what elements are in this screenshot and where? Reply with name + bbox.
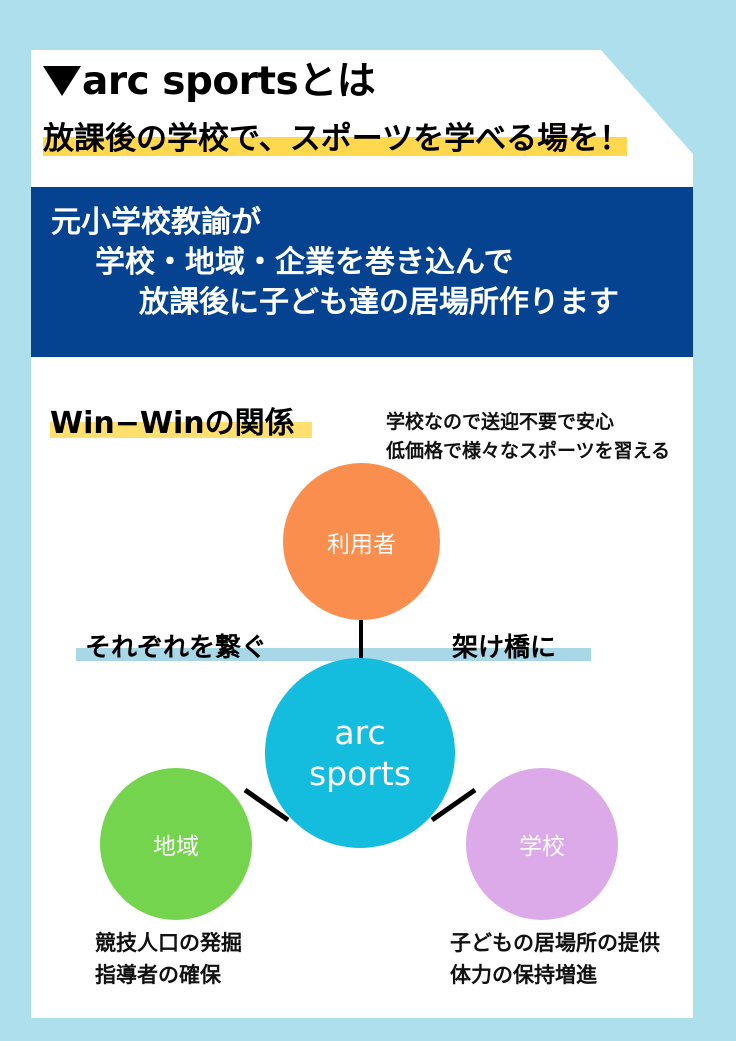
local-community-notes: 競技人口の発掘 指導者の確保 xyxy=(95,928,345,992)
node-user-label: 利用者 xyxy=(327,525,396,559)
user-benefit-note-2: 低価格で様々なスポーツを習える xyxy=(386,437,696,466)
bridge-right-text: 架け橋に xyxy=(452,627,556,664)
page-title: arc sportsとは xyxy=(43,62,653,103)
user-benefit-note-1: 学校なので送迎不要で安心 xyxy=(386,408,696,437)
mission-banner: 元小学校教諭が 学校・地域・企業を巻き込んで 放課後に子ども達の居場所作ります xyxy=(31,187,693,357)
node-local-community-label: 地域 xyxy=(153,827,199,861)
bridge-left-text: それぞれを繋ぐ xyxy=(85,627,267,664)
winwin-label-text: Win−Winの関係 xyxy=(50,406,295,441)
user-benefit-notes: 学校なので送迎不要で安心 低価格で様々なスポーツを習える xyxy=(386,408,696,465)
mission-banner-line-1: 元小学校教諭が xyxy=(51,203,679,243)
header: arc sportsとは 放課後の学校で、スポーツを学べる場を！ xyxy=(43,62,653,158)
triangle-down-icon xyxy=(43,66,81,96)
node-school[interactable]: 学校 xyxy=(466,768,618,920)
mission-banner-line-2: 学校・地域・企業を巻き込んで xyxy=(51,243,679,283)
node-arc-sports[interactable]: arc sports xyxy=(265,658,455,848)
local-community-note-2: 指導者の確保 xyxy=(95,960,345,992)
node-arc-sports-label-line1: arc xyxy=(309,712,411,753)
school-notes: 子どもの居場所の提供 体力の保持増進 xyxy=(450,928,710,992)
local-community-note-1: 競技人口の発掘 xyxy=(95,928,345,960)
school-note-1: 子どもの居場所の提供 xyxy=(450,928,710,960)
winwin-label: Win−Winの関係 xyxy=(50,398,295,442)
page-title-text: arc sportsとは xyxy=(82,62,375,103)
mission-banner-line-3: 放課後に子ども達の居場所作ります xyxy=(51,283,679,323)
page-subtitle: 放課後の学校で、スポーツを学べる場を！ xyxy=(43,113,630,158)
node-arc-sports-label-line2: sports xyxy=(309,753,411,794)
school-note-2: 体力の保持増進 xyxy=(450,960,710,992)
page-subtitle-text: 放課後の学校で、スポーツを学べる場を！ xyxy=(43,121,630,157)
node-local-community[interactable]: 地域 xyxy=(100,768,252,920)
node-user[interactable]: 利用者 xyxy=(283,463,440,620)
node-school-label: 学校 xyxy=(519,827,565,861)
